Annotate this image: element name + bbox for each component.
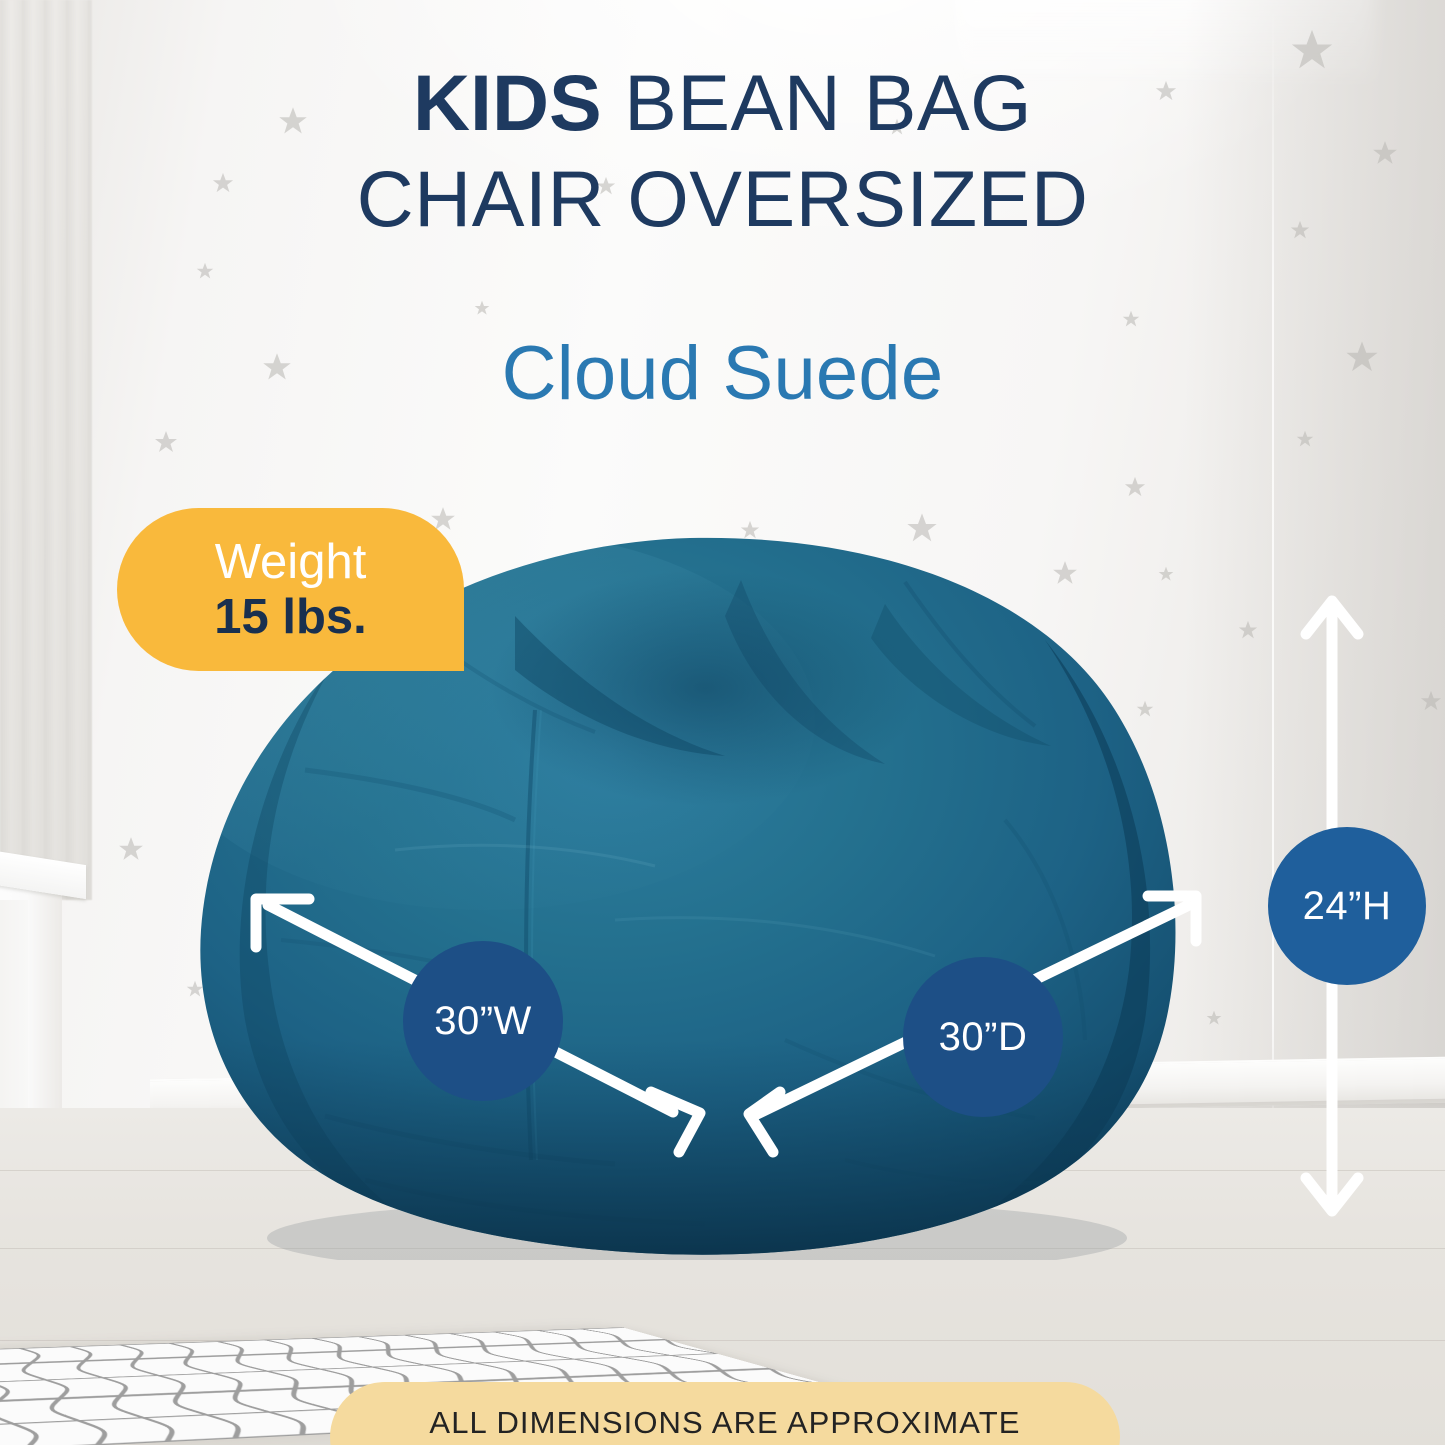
product-infographic: KIDS BEAN BAG CHAIR OVERSIZED Cloud Sued… — [0, 0, 1445, 1445]
star-decal — [474, 300, 490, 316]
weight-value: 15 lbs. — [214, 589, 367, 645]
disclaimer-banner: ALL DIMENSIONS ARE APPROXIMATE — [330, 1382, 1120, 1445]
star-decal — [154, 430, 178, 454]
star-decal — [1296, 430, 1314, 448]
star-decal — [1206, 1010, 1222, 1026]
disclaimer-text: ALL DIMENSIONS ARE APPROXIMATE — [429, 1405, 1020, 1441]
dimension-badge-height: 24”H — [1268, 827, 1426, 985]
headline-kids: KIDS — [413, 58, 602, 147]
dimension-badge-width: 30”W — [403, 941, 563, 1101]
page-subtitle: Cloud Suede — [0, 330, 1445, 418]
star-decal — [1420, 690, 1442, 712]
headline-bean-bag: BEAN BAG — [602, 58, 1032, 147]
headline-line2: CHAIR OVERSIZED — [0, 151, 1445, 247]
dimension-badge-depth: 30”D — [903, 957, 1063, 1117]
star-decal — [1122, 310, 1140, 328]
star-decal — [118, 836, 144, 862]
page-title: KIDS BEAN BAG CHAIR OVERSIZED — [0, 55, 1445, 247]
star-decal — [1238, 620, 1258, 640]
star-decal — [1124, 476, 1146, 498]
weight-badge: Weight 15 lbs. — [117, 508, 464, 671]
weight-label: Weight — [215, 535, 367, 589]
star-decal — [196, 262, 214, 280]
